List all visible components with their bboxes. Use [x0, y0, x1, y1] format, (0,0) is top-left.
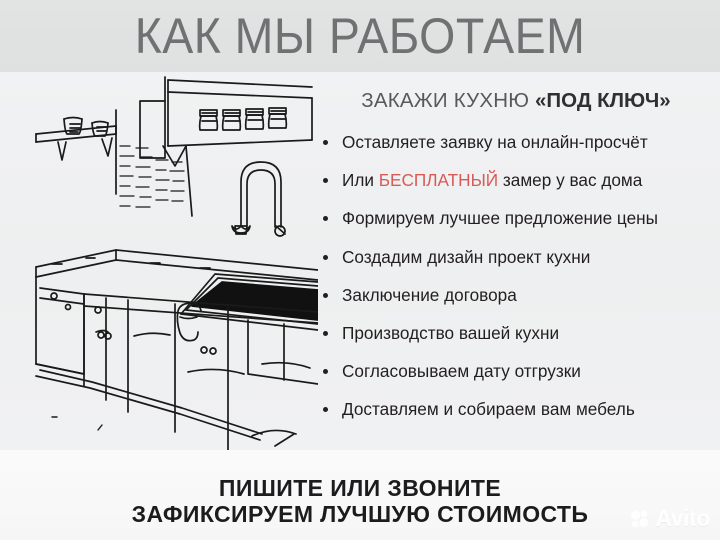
list-item: Заключение договора — [322, 285, 720, 305]
upper-cabinet — [140, 77, 192, 216]
kitchen-illustration — [0, 74, 318, 450]
bullet-dot-icon — [323, 255, 328, 260]
bullet-dot-icon — [323, 178, 328, 183]
poster-root: КАК МЫ РАБОТАЕМ — [0, 0, 720, 540]
step-text-post: замер у вас дома — [498, 170, 642, 190]
list-item: Оставляете заявку на онлайн-просчёт — [322, 132, 720, 152]
subtitle-bold: «ПОД КЛЮЧ» — [535, 89, 671, 112]
footer-line-2: ЗАФИКСИРУЕМ ЛУЧШУЮ СТОИМОСТЬ — [0, 501, 720, 527]
list-item: Создадим дизайн проект кухни — [322, 247, 720, 267]
jar-group — [200, 108, 287, 130]
list-item: Или БЕСПЛАТНЫЙ замер у вас дома — [322, 170, 720, 190]
bullet-dot-icon — [323, 369, 328, 374]
countertop — [36, 250, 318, 280]
step-text-pre: Производство вашей кухни — [342, 323, 559, 343]
step-text-pre: Доставляем и собираем вам мебель — [342, 399, 635, 419]
step-text-pre: Заключение договора — [342, 285, 517, 305]
footer-callout: ПИШИТЕ ИЛИ ЗВОНИТЕ ЗАФИКСИРУЕМ ЛУЧШУЮ СТ… — [0, 476, 720, 527]
avito-watermark: Avito — [629, 505, 710, 532]
step-text-pre: Или — [342, 170, 379, 190]
backsplash-tiles — [120, 146, 184, 207]
step-text-pre: Согласовываем дату отгрузки — [342, 361, 581, 381]
list-item: Формируем лучшее предложение цены — [322, 208, 720, 228]
floor-line — [36, 364, 296, 446]
list-item: Доставляем и собираем вам мебель — [322, 399, 720, 419]
footer-line-1: ПИШИТЕ ИЛИ ЗВОНИТЕ — [0, 476, 720, 501]
list-item: Производство вашей кухни — [322, 323, 720, 343]
bullet-dot-icon — [323, 140, 328, 145]
step-text-pre: Формируем лучшее предложение цены — [342, 208, 658, 228]
step-text-highlight: БЕСПЛАТНЫЙ — [379, 170, 498, 190]
avito-dots-icon — [629, 509, 651, 529]
page-title: КАК МЫ РАБОТАЕМ — [25, 6, 695, 66]
subtitle: ЗАКАЖИ КУХНЮ «ПОД КЛЮЧ» — [318, 88, 720, 114]
subtitle-normal: ЗАКАЖИ КУХНЮ — [361, 89, 535, 112]
gooseneck-faucet — [232, 162, 285, 236]
two-cups — [64, 118, 108, 137]
bullet-dot-icon — [323, 407, 328, 412]
step-text-pre: Создадим дизайн проект кухни — [342, 247, 590, 267]
floor-speckles — [52, 417, 212, 450]
step-text-pre: Оставляете заявку на онлайн-просчёт — [342, 132, 648, 152]
process-steps-list: Оставляете заявку на онлайн-просчёт Или … — [318, 132, 720, 419]
content-column: ЗАКАЖИ КУХНЮ «ПОД КЛЮЧ» Оставляете заявк… — [318, 88, 720, 448]
bullet-dot-icon — [323, 216, 328, 221]
hanging-towel — [177, 303, 201, 341]
avito-wordmark: Avito — [655, 505, 710, 532]
bullet-dot-icon — [323, 293, 328, 298]
list-item: Согласовываем дату отгрузки — [322, 361, 720, 381]
bullet-dot-icon — [323, 331, 328, 336]
